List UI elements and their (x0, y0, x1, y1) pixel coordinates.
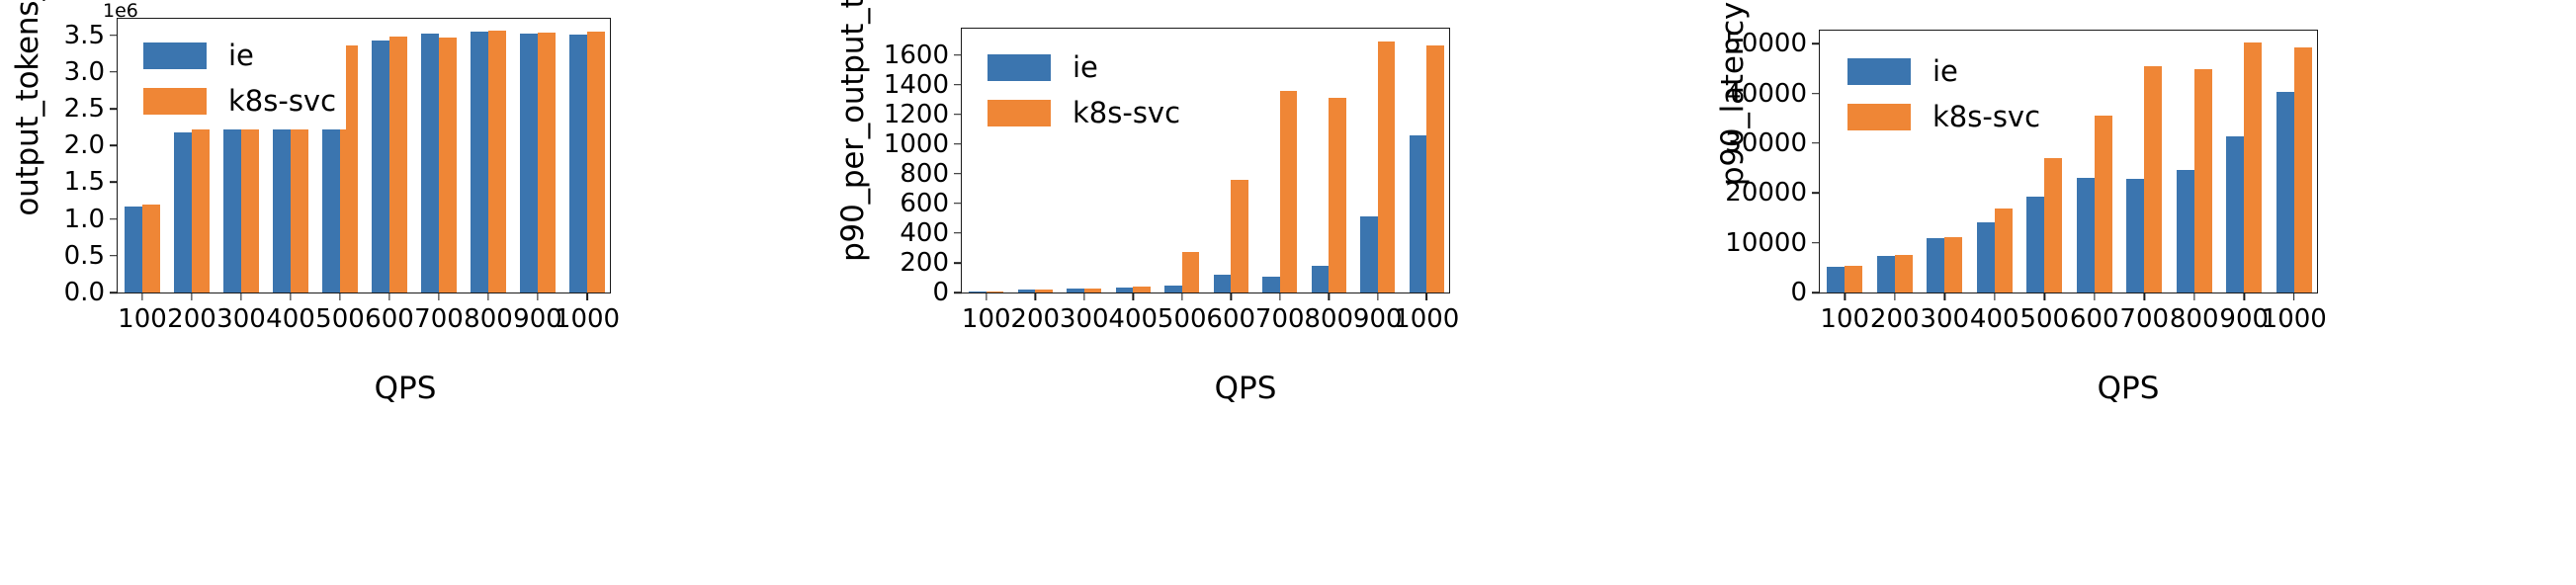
bar-ie-700 (2126, 179, 2144, 292)
bar-k8s-svc-700 (439, 38, 457, 292)
bar-k8s-svc-800 (488, 31, 506, 292)
bar-k8s-svc-100 (142, 205, 160, 292)
bar-k8s-svc-700 (1280, 91, 1298, 292)
plot-area: 0200400600800100012001400160010020030040… (961, 28, 1450, 293)
bar-k8s-svc-200 (1895, 255, 1913, 292)
y-axis-tick-label: 600 (900, 191, 962, 216)
chart-legend[interactable]: iek8s-svc (135, 27, 346, 129)
bar-ie-700 (1262, 277, 1280, 292)
bar-k8s-svc-500 (2044, 158, 2062, 292)
y-axis-tick-label: 3.0 (64, 59, 118, 85)
bar-ie-600 (2077, 178, 2095, 292)
legend-item-label: k8s-svc (1932, 103, 2040, 131)
x-axis-tick-label: 100 (1820, 292, 1869, 332)
x-axis-tick-label: 700 (414, 292, 464, 332)
y-axis-tick-label: 3.5 (64, 23, 118, 48)
x-axis-tick-label: 600 (365, 292, 414, 332)
y-axis-tick-label: 0.0 (64, 280, 118, 305)
x-axis-tick-label: 700 (2119, 292, 2169, 332)
chart-legend[interactable]: iek8s-svc (1840, 42, 2050, 145)
x-axis-tick-label: 200 (1010, 292, 1060, 332)
x-axis-tick-label: 1000 (2262, 292, 2327, 332)
legend-item-label: ie (1932, 57, 1958, 86)
x-axis-tick-label: 200 (1870, 292, 1920, 332)
x-axis-tick-label: 400 (266, 292, 315, 332)
x-axis-tick-label: 400 (1108, 292, 1158, 332)
chart-panel-3: p90_latency01000020000300004000050000100… (1680, 0, 2576, 585)
legend-item-label: k8s-svc (228, 87, 336, 116)
y-axis-tick-label: 1.5 (64, 169, 118, 195)
legend-swatch-icon (1847, 104, 1911, 130)
y-axis-tick-label: 0 (932, 280, 962, 305)
y-axis-tick-label: 10000 (1725, 230, 1820, 256)
y-axis-tick-label: 1200 (884, 102, 962, 127)
bar-k8s-svc-200 (192, 128, 210, 292)
x-axis-label: QPS (811, 371, 1680, 406)
x-axis-tick-label: 600 (2070, 292, 2119, 332)
legend-item-label: ie (1073, 53, 1098, 82)
bar-ie-400 (1977, 222, 1995, 292)
chart-panel-2: p90_per_output_token_latency020040060080… (811, 0, 1680, 585)
x-axis-label: QPS (0, 371, 811, 406)
plot-area: 0.00.51.01.52.02.53.03.51002003004005006… (117, 18, 611, 293)
bar-ie-500 (1164, 286, 1182, 292)
y-axis-tick-label: 1000 (884, 131, 962, 157)
bar-ie-900 (1360, 216, 1378, 292)
legend-item-ie[interactable]: ie (1847, 48, 2040, 94)
plot-area: 0100002000030000400005000010020030040050… (1819, 30, 2318, 293)
x-axis-tick-label: 300 (1920, 292, 1969, 332)
y-axis-tick-label: 0 (1790, 280, 1820, 305)
bar-ie-200 (174, 132, 192, 292)
chart-panel-1: output_tokens_per_min1e60.00.51.01.52.02… (0, 0, 811, 585)
bar-k8s-svc-600 (389, 37, 407, 292)
x-axis-tick-label: 800 (464, 292, 513, 332)
legend-item-k8s-svc[interactable]: k8s-svc (143, 78, 336, 124)
x-axis-tick-label: 500 (315, 292, 365, 332)
legend-swatch-icon (1847, 58, 1911, 85)
y-axis-tick-label: 400 (900, 220, 962, 246)
bar-k8s-svc-300 (1944, 237, 1962, 292)
y-axis-label: output_tokens_per_min (10, 0, 49, 296)
legend-item-label: ie (228, 42, 254, 70)
legend-item-k8s-svc[interactable]: k8s-svc (987, 90, 1180, 135)
bar-k8s-svc-600 (2095, 116, 2112, 292)
bar-ie-900 (2226, 136, 2244, 292)
bar-k8s-svc-800 (2194, 69, 2212, 292)
bar-k8s-svc-600 (1231, 180, 1248, 292)
x-axis-tick-label: 200 (167, 292, 216, 332)
x-axis-tick-label: 400 (1970, 292, 2019, 332)
x-axis-tick-label: 1000 (1394, 292, 1459, 332)
bar-k8s-svc-1000 (1426, 45, 1444, 292)
bar-k8s-svc-700 (2144, 66, 2162, 292)
x-axis-tick-label: 300 (1060, 292, 1109, 332)
y-axis-tick-label: 30000 (1725, 130, 1820, 156)
bar-ie-600 (1214, 275, 1232, 292)
legend-swatch-icon (143, 42, 207, 69)
legend-item-ie[interactable]: ie (143, 33, 336, 78)
bar-k8s-svc-800 (1329, 98, 1346, 292)
y-axis-tick-label: 1600 (884, 42, 962, 68)
chart-legend[interactable]: iek8s-svc (980, 39, 1190, 141)
x-axis-tick-label: 700 (1255, 292, 1305, 332)
x-axis-tick-label: 500 (2019, 292, 2069, 332)
bar-ie-800 (2177, 170, 2194, 292)
legend-item-label: k8s-svc (1073, 99, 1180, 127)
bar-ie-700 (421, 34, 439, 292)
x-axis-tick-label: 800 (2170, 292, 2219, 332)
legend-swatch-icon (143, 88, 207, 115)
legend-swatch-icon (987, 100, 1051, 126)
y-axis-label: p90_per_output_token_latency (835, 0, 875, 306)
y-axis-tick-label: 1400 (884, 72, 962, 98)
legend-swatch-icon (987, 54, 1051, 81)
bar-ie-1000 (569, 35, 587, 292)
bar-k8s-svc-400 (1995, 209, 2013, 292)
y-axis-tick-label: 200 (900, 250, 962, 276)
bar-ie-600 (372, 41, 389, 292)
x-axis-tick-label: 100 (962, 292, 1011, 332)
bar-k8s-svc-100 (1845, 266, 1862, 292)
y-axis-tick-label: 2.5 (64, 96, 118, 122)
y-axis-tick-label: 40000 (1725, 81, 1820, 107)
bar-k8s-svc-1000 (2294, 47, 2312, 292)
figure-bar-charts: output_tokens_per_min1e60.00.51.01.52.02… (0, 0, 2576, 585)
bar-k8s-svc-900 (538, 33, 556, 292)
bar-ie-100 (125, 207, 142, 292)
y-axis-tick-label: 0.5 (64, 243, 118, 269)
y-axis-tick-label: 800 (900, 161, 962, 187)
bar-ie-100 (1827, 267, 1845, 292)
bar-k8s-svc-500 (1182, 252, 1200, 292)
bar-ie-800 (1312, 266, 1330, 292)
x-axis-tick-label: 600 (1206, 292, 1255, 332)
y-axis-tick-label: 20000 (1725, 180, 1820, 206)
bar-ie-500 (2026, 197, 2044, 292)
x-axis-tick-label: 500 (1158, 292, 1207, 332)
y-axis-tick-label: 50000 (1725, 31, 1820, 56)
bar-k8s-svc-900 (2244, 42, 2262, 292)
y-axis-tick-label: 2.0 (64, 132, 118, 158)
bar-ie-200 (1877, 256, 1895, 292)
y-axis-tick-label: 1.0 (64, 207, 118, 232)
x-axis-tick-label: 800 (1304, 292, 1353, 332)
bar-k8s-svc-1000 (587, 32, 605, 292)
x-axis-label: QPS (1680, 371, 2576, 406)
bar-ie-300 (1927, 238, 1944, 292)
x-axis-tick-label: 100 (118, 292, 167, 332)
x-axis-tick-label: 300 (216, 292, 266, 332)
legend-item-k8s-svc[interactable]: k8s-svc (1847, 94, 2040, 139)
bar-k8s-svc-900 (1378, 42, 1396, 292)
bar-ie-1000 (1410, 135, 1427, 292)
bar-ie-800 (471, 32, 488, 292)
legend-item-ie[interactable]: ie (987, 44, 1180, 90)
x-axis-tick-label: 1000 (555, 292, 620, 332)
bar-ie-900 (520, 34, 538, 292)
bar-ie-1000 (2276, 92, 2294, 292)
